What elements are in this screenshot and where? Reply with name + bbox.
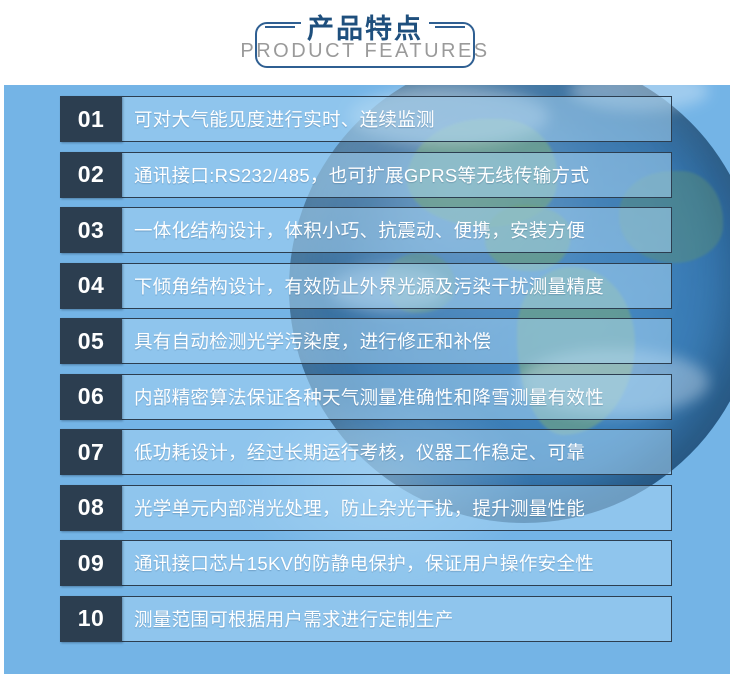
feature-row: 08光学单元内部消光处理，防止杂光干扰，提升测量性能 (60, 485, 672, 531)
feature-row: 09通讯接口芯片15KV的防静电保护，保证用户操作安全性 (60, 540, 672, 586)
feature-text: 内部精密算法保证各种天气测量准确性和降雪测量有效性 (122, 374, 672, 420)
page-title-en: PRODUCT FEATURES (0, 40, 730, 63)
feature-text: 可对大气能见度进行实时、连续监测 (122, 96, 672, 142)
feature-text: 测量范围可根据用户需求进行定制生产 (122, 596, 672, 642)
feature-text: 一体化结构设计，体积小巧、抗震动、便携，安装方便 (122, 207, 672, 253)
feature-number-badge: 04 (60, 263, 122, 309)
feature-number-badge: 01 (60, 96, 122, 142)
feature-list-section: 01可对大气能见度进行实时、连续监测02通讯接口:RS232/485，也可扩展G… (4, 85, 730, 674)
feature-text: 具有自动检测光学污染度，进行修正和补偿 (122, 318, 672, 364)
feature-text: 光学单元内部消光处理，防止杂光干扰，提升测量性能 (122, 485, 672, 531)
page-header: 产品特点 PRODUCT FEATURES (0, 0, 730, 85)
feature-number-badge: 05 (60, 318, 122, 364)
feature-row: 01可对大气能见度进行实时、连续监测 (60, 96, 672, 142)
feature-row: 10测量范围可根据用户需求进行定制生产 (60, 596, 672, 642)
feature-number-badge: 10 (60, 596, 122, 642)
feature-number-badge: 07 (60, 429, 122, 475)
feature-number-badge: 09 (60, 540, 122, 586)
feature-text: 低功耗设计，经过长期运行考核，仪器工作稳定、可靠 (122, 429, 672, 475)
feature-row: 07低功耗设计，经过长期运行考核，仪器工作稳定、可靠 (60, 429, 672, 475)
feature-row: 04下倾角结构设计，有效防止外界光源及污染干扰测量精度 (60, 263, 672, 309)
feature-row: 05具有自动检测光学污染度，进行修正和补偿 (60, 318, 672, 364)
feature-text: 通讯接口:RS232/485，也可扩展GPRS等无线传输方式 (122, 152, 672, 198)
feature-number-badge: 03 (60, 207, 122, 253)
feature-row: 02通讯接口:RS232/485，也可扩展GPRS等无线传输方式 (60, 152, 672, 198)
feature-rows: 01可对大气能见度进行实时、连续监测02通讯接口:RS232/485，也可扩展G… (4, 85, 730, 674)
feature-number-badge: 02 (60, 152, 122, 198)
feature-text: 下倾角结构设计，有效防止外界光源及污染干扰测量精度 (122, 263, 672, 309)
feature-row: 03一体化结构设计，体积小巧、抗震动、便携，安装方便 (60, 207, 672, 253)
feature-row: 06内部精密算法保证各种天气测量准确性和降雪测量有效性 (60, 374, 672, 420)
feature-number-badge: 06 (60, 374, 122, 420)
feature-number-badge: 08 (60, 485, 122, 531)
feature-text: 通讯接口芯片15KV的防静电保护，保证用户操作安全性 (122, 540, 672, 586)
